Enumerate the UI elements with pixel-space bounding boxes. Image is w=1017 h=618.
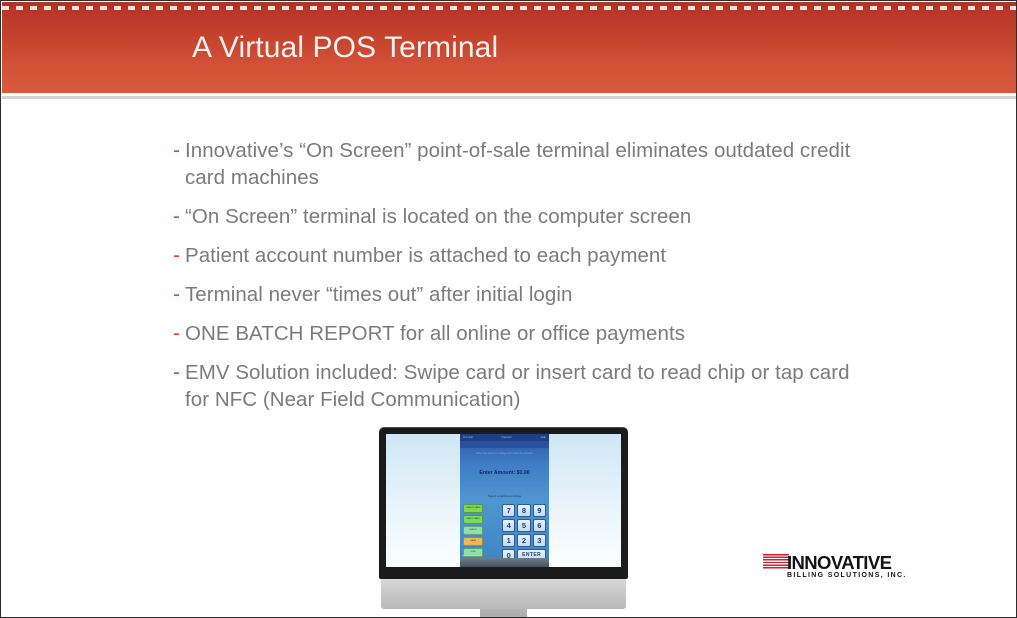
bullet-marker-icon: - bbox=[173, 242, 185, 269]
pos-numeric-keypad: 7 8 9 4 5 6 1 2 3 0 ENTER bbox=[502, 504, 546, 562]
pos-key-4[interactable]: 4 bbox=[502, 519, 515, 532]
pos-footer-bar bbox=[460, 558, 549, 567]
pos-titlebar-center: Payment bbox=[502, 434, 512, 441]
banner-divider bbox=[2, 96, 1017, 99]
pos-navbar: Enter the amount to charge and select th… bbox=[460, 441, 549, 448]
logo-tagline: BILLING SOLUTIONS, INC. bbox=[787, 571, 907, 580]
logo-wordmark: INNOVATIVE bbox=[787, 553, 891, 572]
list-item: - Patient account number is attached to … bbox=[173, 242, 873, 269]
pos-key-3[interactable]: 3 bbox=[533, 534, 546, 547]
pos-titlebar: Terminal Payment Help bbox=[460, 434, 549, 441]
list-item: - EMV Solution included: Swipe card or i… bbox=[173, 359, 873, 413]
pos-amount-prompt: Enter Amount: $0.00 bbox=[460, 470, 549, 476]
pos-key-1[interactable]: 1 bbox=[502, 534, 515, 547]
pos-side-button[interactable]: DEBIT CARD bbox=[463, 515, 483, 524]
list-item-text: “On Screen” terminal is located on the c… bbox=[185, 203, 691, 230]
bullet-marker-icon: - bbox=[173, 320, 185, 347]
list-item: - Terminal never “times out” after initi… bbox=[173, 281, 873, 308]
bullet-list: - Innovative’s “On Screen” point-of-sale… bbox=[173, 137, 873, 425]
bullet-marker-icon: - bbox=[173, 203, 185, 230]
pos-side-button[interactable]: CHECK bbox=[463, 526, 483, 535]
pos-hint-text: Select a card to continue bbox=[460, 494, 549, 498]
monitor-screen: Terminal Payment Help Enter the amount t… bbox=[386, 434, 621, 567]
list-item-text: Patient account number is attached to ea… bbox=[185, 242, 666, 269]
bullet-marker-icon: - bbox=[173, 359, 185, 386]
company-logo: INNOVATIVE BILLING SOLUTIONS, INC. bbox=[763, 553, 893, 585]
computer-monitor-image: Terminal Payment Help Enter the amount t… bbox=[379, 427, 628, 618]
banner-dashed-rule bbox=[2, 6, 1017, 10]
pos-key-5[interactable]: 5 bbox=[517, 519, 530, 532]
pos-titlebar-left: Terminal bbox=[463, 434, 473, 441]
title-banner: A Virtual POS Terminal bbox=[2, 2, 1017, 93]
list-item-text: Innovative’s “On Screen” point-of-sale t… bbox=[185, 137, 873, 191]
pos-key-7[interactable]: 7 bbox=[502, 504, 515, 517]
monitor-bezel: Terminal Payment Help Enter the amount t… bbox=[379, 427, 628, 579]
list-item: - “On Screen” terminal is located on the… bbox=[173, 203, 873, 230]
bullet-marker-icon: - bbox=[173, 281, 185, 308]
list-item-text: EMV Solution included: Swipe card or ins… bbox=[185, 359, 873, 413]
pos-keypad-area: CREDIT CARD DEBIT CARD CHECK CASH VOID R… bbox=[460, 501, 549, 558]
wavy-stripes-logo-icon bbox=[763, 554, 789, 569]
bullet-marker-icon: - bbox=[173, 137, 185, 164]
pos-side-button[interactable]: CASH bbox=[463, 537, 483, 546]
monitor-stand-neck bbox=[480, 609, 527, 618]
page-title: A Virtual POS Terminal bbox=[192, 29, 498, 67]
list-item: - ONE BATCH REPORT for all online or off… bbox=[173, 320, 873, 347]
pos-key-9[interactable]: 9 bbox=[533, 504, 546, 517]
pos-navbar-text: Enter the amount to charge and select th… bbox=[476, 452, 532, 455]
presentation-slide: A Virtual POS Terminal - Innovative’s “O… bbox=[0, 0, 1017, 618]
list-item-text: ONE BATCH REPORT for all online or offic… bbox=[185, 320, 685, 347]
pos-side-button[interactable]: CREDIT CARD bbox=[463, 504, 483, 513]
pos-key-8[interactable]: 8 bbox=[517, 504, 530, 517]
pos-footnote: Secure Connection bbox=[462, 555, 481, 557]
pos-terminal-app: Terminal Payment Help Enter the amount t… bbox=[460, 434, 549, 567]
pos-titlebar-right: Help bbox=[541, 434, 546, 441]
pos-key-6[interactable]: 6 bbox=[533, 519, 546, 532]
list-item-text: Terminal never “times out” after initial… bbox=[185, 281, 572, 308]
pos-key-2[interactable]: 2 bbox=[517, 534, 530, 547]
list-item: - Innovative’s “On Screen” point-of-sale… bbox=[173, 137, 873, 191]
monitor-base bbox=[381, 579, 626, 609]
